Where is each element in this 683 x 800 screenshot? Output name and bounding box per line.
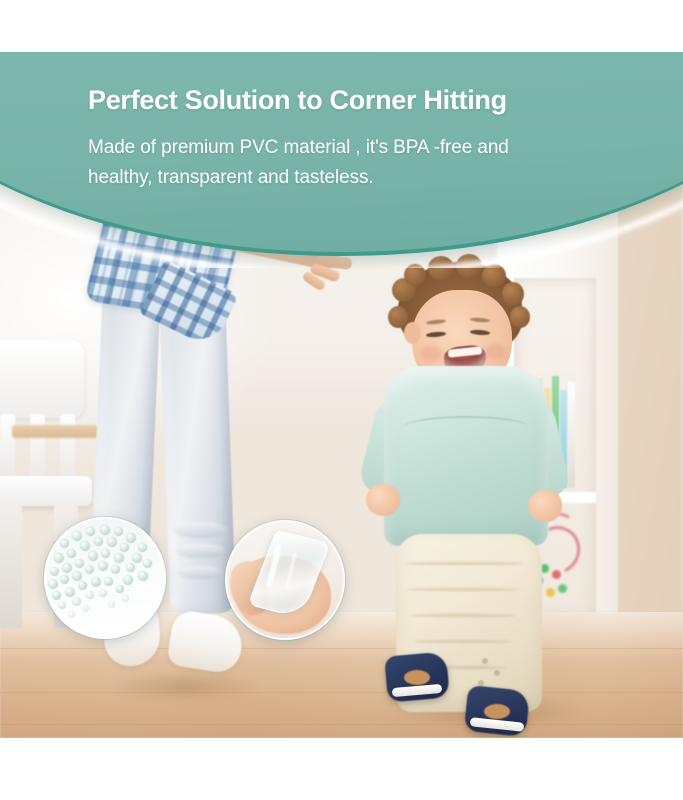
hair-curl (502, 282, 524, 306)
pant-ruche (414, 640, 512, 643)
sandal-opening (484, 704, 510, 719)
pant-ruche (404, 562, 524, 565)
lifestyle-photo (0, 0, 683, 738)
chair-post (30, 414, 45, 480)
hair-curl (388, 306, 408, 328)
toddler-cheek (420, 346, 442, 361)
pant-detail-dot (494, 670, 500, 676)
hair-curl (482, 264, 506, 287)
chair-leg (0, 504, 22, 628)
chair-back (0, 340, 84, 418)
pant-detail-dot (482, 658, 488, 664)
toddler-left-hand (366, 484, 400, 516)
pvc-pellets-inset (44, 517, 166, 639)
hair-curl (428, 256, 454, 280)
mother-right-sock (166, 609, 246, 676)
hair-curl (510, 306, 530, 328)
toddler-shirt (384, 366, 548, 546)
product-marketing-image: Perfect Solution to Corner Hitting Made … (0, 0, 683, 800)
toddler-cheek (484, 344, 506, 359)
shirt-seam (404, 416, 528, 438)
denim-fold (178, 566, 224, 579)
sandal-opening (404, 670, 430, 685)
toddler-ear (404, 322, 421, 344)
denim-fold (174, 522, 228, 538)
corner-guard-inset (225, 520, 345, 640)
hair-curl (456, 254, 482, 278)
chair-post (0, 414, 15, 480)
denim-fold (176, 544, 226, 558)
toddler-figure (370, 262, 590, 732)
chair-post (60, 414, 75, 480)
hair-curl (404, 264, 426, 286)
toddler-right-hand (528, 490, 562, 522)
pant-ruche (410, 614, 516, 617)
pant-ruche (406, 588, 520, 591)
